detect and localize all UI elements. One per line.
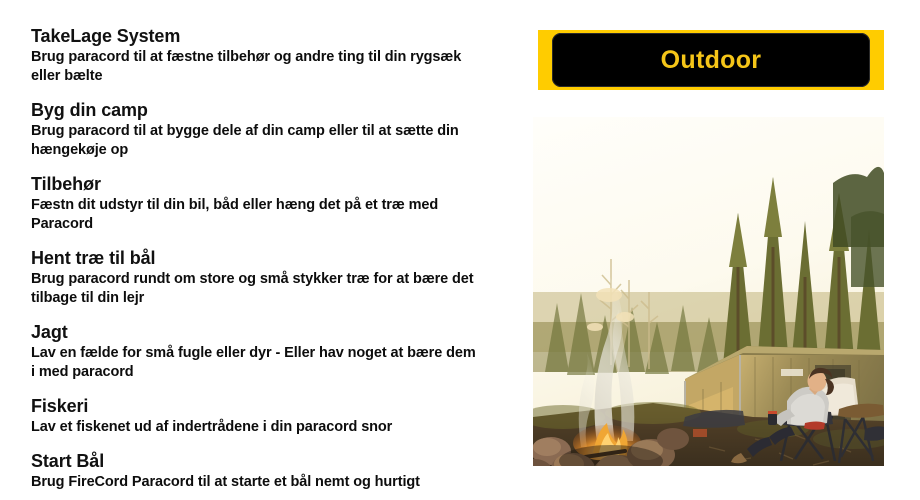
feature-description: Fæstn dit udstyr til din bil, båd eller … bbox=[31, 196, 477, 234]
feature-description: Brug paracord rundt om store og små styk… bbox=[31, 270, 477, 308]
right-column: Outdoor bbox=[533, 0, 885, 500]
slide-root: TakeLage System Brug paracord til at fæs… bbox=[0, 0, 920, 500]
feature-title: TakeLage System bbox=[31, 25, 477, 47]
feature-description: Brug FireCord Paracord til at starte et … bbox=[31, 473, 477, 492]
outdoor-banner: Outdoor bbox=[538, 30, 884, 90]
banner-panel: Outdoor bbox=[552, 33, 870, 87]
list-item: Hent træ til bål Brug paracord rundt om … bbox=[31, 247, 477, 308]
feature-description: Lav en fælde for små fugle eller dyr - E… bbox=[31, 344, 477, 382]
banner-label: Outdoor bbox=[661, 48, 762, 73]
list-item: TakeLage System Brug paracord til at fæs… bbox=[31, 25, 477, 86]
feature-title: Hent træ til bål bbox=[31, 247, 477, 269]
feature-description: Brug paracord til at bygge dele af din c… bbox=[31, 122, 477, 160]
feature-title: Jagt bbox=[31, 321, 477, 343]
list-item: Jagt Lav en fælde for små fugle eller dy… bbox=[31, 321, 477, 382]
feature-description: Lav et fiskenet ud af indertrådene i din… bbox=[31, 418, 477, 437]
list-item: Byg din camp Brug paracord til at bygge … bbox=[31, 99, 477, 160]
feature-description: Brug paracord til at fæstne tilbehør og … bbox=[31, 48, 477, 86]
feature-title: Byg din camp bbox=[31, 99, 477, 121]
camping-photo bbox=[533, 117, 884, 466]
feature-title: Tilbehør bbox=[31, 173, 477, 195]
list-item: Tilbehør Fæstn dit udstyr til din bil, b… bbox=[31, 173, 477, 234]
camping-photo-illustration bbox=[533, 117, 884, 466]
feature-list: TakeLage System Brug paracord til at fæs… bbox=[31, 25, 477, 492]
feature-title: Start Bål bbox=[31, 450, 477, 472]
list-item: Fiskeri Lav et fiskenet ud af indertråde… bbox=[31, 395, 477, 437]
feature-title: Fiskeri bbox=[31, 395, 477, 417]
list-item: Start Bål Brug FireCord Paracord til at … bbox=[31, 450, 477, 492]
